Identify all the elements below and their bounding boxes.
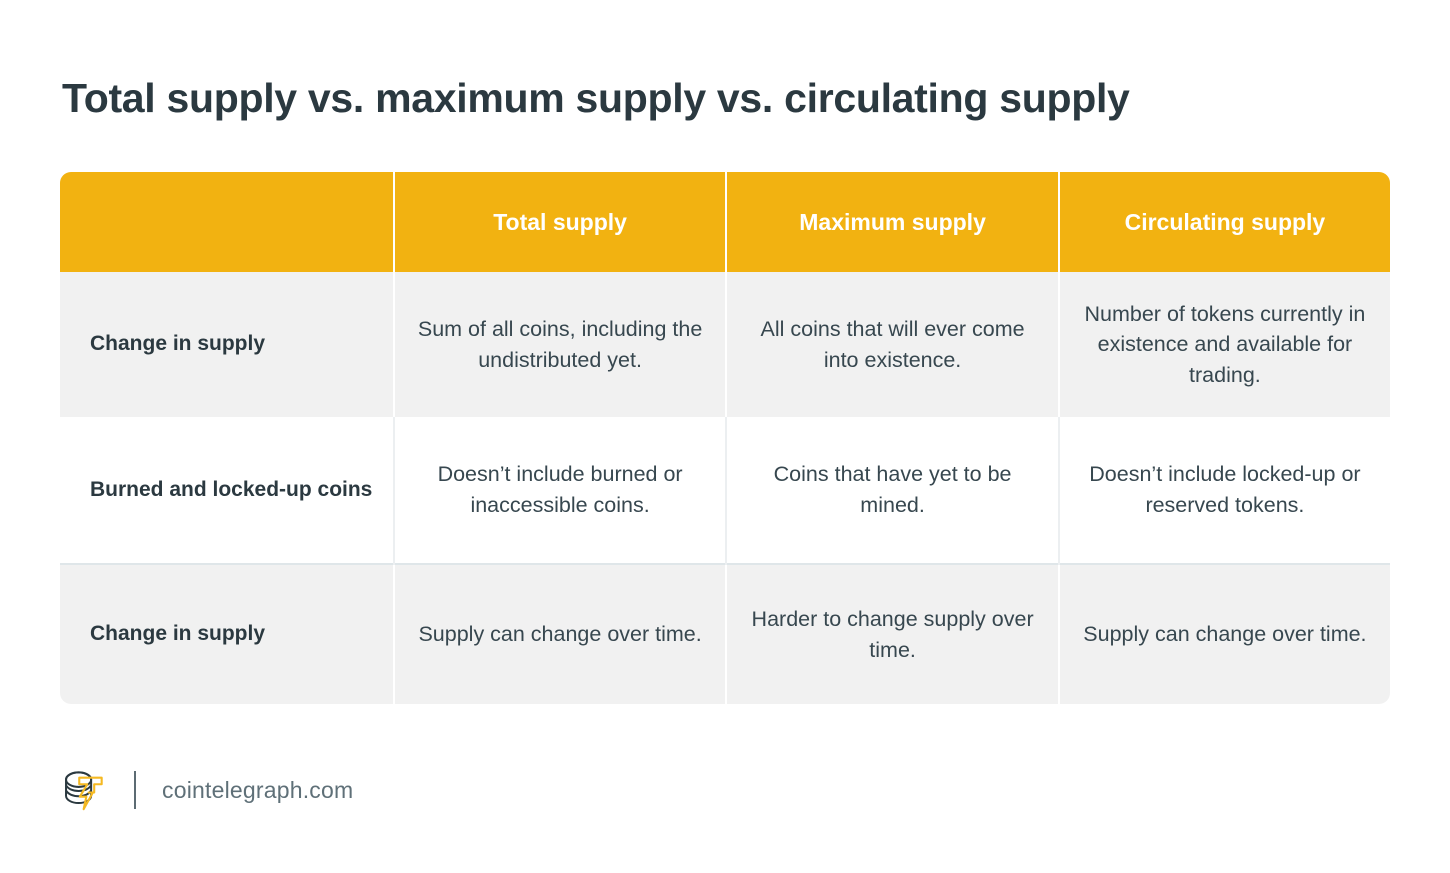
comparison-table-container: Total supply Maximum supply Circulating … (60, 172, 1390, 704)
row-label-change-in-supply-1: Change in supply (60, 272, 394, 417)
column-header-maximum-supply: Maximum supply (726, 172, 1059, 272)
table-row: Change in supply Supply can change over … (60, 564, 1390, 704)
comparison-table: Total supply Maximum supply Circulating … (60, 172, 1390, 704)
cell-maximum-supply-2: Coins that have yet to be mined. (726, 417, 1059, 564)
table-row: Change in supply Sum of all coins, inclu… (60, 272, 1390, 417)
cell-total-supply-3: Supply can change over time. (394, 564, 727, 704)
cell-circulating-supply-2: Doesn’t include locked-up or reserved to… (1059, 417, 1390, 564)
cell-total-supply-2: Doesn’t include burned or inaccessible c… (394, 417, 727, 564)
cointelegraph-logo-icon (62, 767, 108, 813)
infographic-page: Total supply vs. maximum supply vs. circ… (0, 0, 1450, 873)
cell-circulating-supply-3: Supply can change over time. (1059, 564, 1390, 704)
row-label-change-in-supply-2: Change in supply (60, 564, 394, 704)
footer: cointelegraph.com (62, 760, 353, 820)
column-header-attribute (60, 172, 394, 272)
column-header-circulating-supply: Circulating supply (1059, 172, 1390, 272)
table-body: Change in supply Sum of all coins, inclu… (60, 272, 1390, 704)
cell-maximum-supply-3: Harder to change supply over time. (726, 564, 1059, 704)
footer-divider (134, 771, 136, 809)
table-row: Burned and locked-up coins Doesn’t inclu… (60, 417, 1390, 564)
cell-total-supply-1: Sum of all coins, including the undistri… (394, 272, 727, 417)
table-header: Total supply Maximum supply Circulating … (60, 172, 1390, 272)
page-title: Total supply vs. maximum supply vs. circ… (62, 75, 1392, 122)
footer-site-label: cointelegraph.com (162, 777, 353, 804)
cell-circulating-supply-1: Number of tokens currently in existence … (1059, 272, 1390, 417)
column-header-total-supply: Total supply (394, 172, 727, 272)
row-label-burned-and-locked-up-coins: Burned and locked-up coins (60, 417, 394, 564)
cell-maximum-supply-1: All coins that will ever come into exist… (726, 272, 1059, 417)
table-header-row: Total supply Maximum supply Circulating … (60, 172, 1390, 272)
